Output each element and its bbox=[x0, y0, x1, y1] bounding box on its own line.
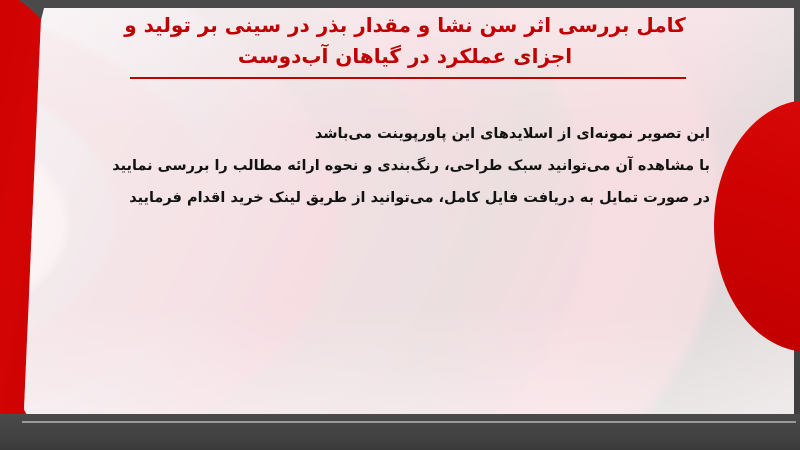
bottom-dark-strip bbox=[0, 414, 800, 450]
title-line-1: کامل بررسی اثر سن نشا و مقدار بذر در سین… bbox=[60, 10, 750, 41]
bottom-strip-highlight-line bbox=[22, 421, 796, 423]
slide-body-text: این تصویر نمونه‌ای از اسلایدهای این پاور… bbox=[70, 118, 710, 214]
title-line-2: اجزای عملکرد در گیاهان آب‌دوست bbox=[60, 41, 750, 72]
body-line-2: با مشاهده آن می‌توانید سبک طراحی، رنگ‌بن… bbox=[70, 150, 710, 182]
slide-title: کامل بررسی اثر سن نشا و مقدار بذر در سین… bbox=[60, 10, 750, 72]
body-line-1: این تصویر نمونه‌ای از اسلایدهای این پاور… bbox=[70, 118, 710, 150]
body-line-3: در صورت تمایل به دریافت فایل کامل، می‌تو… bbox=[70, 182, 710, 214]
slide-canvas: کامل بررسی اثر سن نشا و مقدار بذر در سین… bbox=[0, 0, 800, 450]
title-underline bbox=[130, 77, 686, 79]
